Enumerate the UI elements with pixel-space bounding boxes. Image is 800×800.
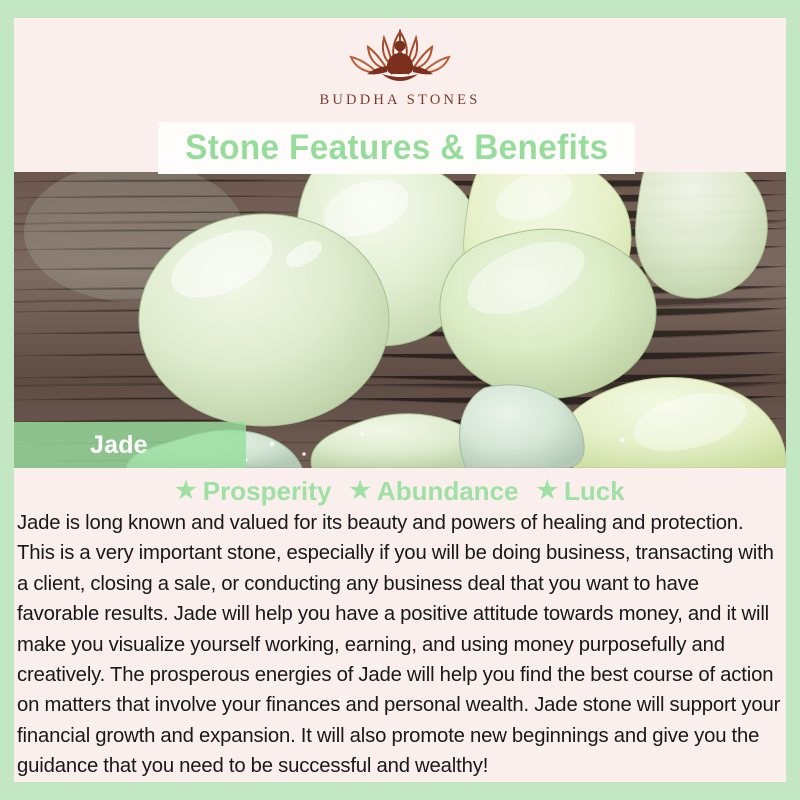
benefit-luck: ★ Luck — [537, 476, 625, 507]
star-icon: ★ — [175, 479, 197, 503]
brand-name: BUDDHA STONES — [320, 92, 481, 109]
benefit-label: Luck — [564, 476, 625, 507]
star-icon: ★ — [349, 479, 371, 503]
lotus-meditation-icon — [325, 26, 475, 90]
poster-root: BUDDHA STONES Stone Features & Benefits — [0, 0, 800, 800]
stone-name-label: Jade — [90, 431, 148, 460]
star-icon: ★ — [537, 479, 559, 503]
page-title: Stone Features & Benefits — [185, 128, 608, 168]
brand-header: BUDDHA STONES — [14, 18, 786, 120]
benefit-label: Prosperity — [203, 476, 332, 507]
benefits-row: ★ Prosperity ★ Abundance ★ Luck — [14, 474, 786, 508]
stone-description: Jade is long known and valued for its be… — [17, 508, 785, 782]
benefit-prosperity: ★ Prosperity — [175, 476, 331, 507]
content-card: BUDDHA STONES Stone Features & Benefits — [14, 18, 786, 782]
benefit-label: Abundance — [377, 476, 519, 507]
stone-name-bar: Jade — [14, 422, 246, 468]
title-banner: Stone Features & Benefits — [158, 122, 635, 174]
benefit-abundance: ★ Abundance — [349, 476, 518, 507]
